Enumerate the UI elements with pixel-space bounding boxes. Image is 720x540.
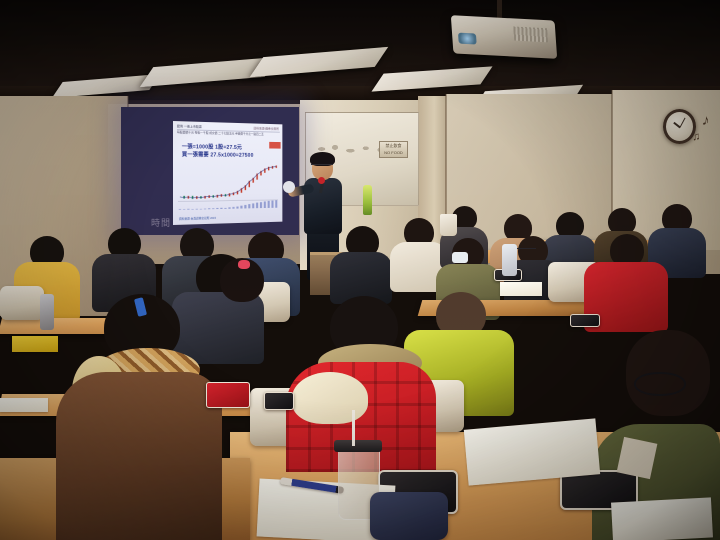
slide-calculation: 一張=1000股 1股=27.5元 買一張需要 27.5x1000=27500 — [182, 143, 279, 160]
hair-tie — [238, 260, 250, 269]
glasses-icon — [516, 248, 536, 254]
slide-header-right: 資料來源:證券交易所 — [253, 126, 278, 131]
slide-header-left: 範例 一張上市股票 — [177, 124, 202, 129]
straw — [352, 410, 355, 446]
wall-sign: 禁止飲食 NO FOOD — [379, 141, 408, 158]
microphone-icon — [318, 177, 325, 184]
glasses-icon — [311, 164, 333, 169]
wall-sign-line2: NO FOOD — [380, 149, 407, 156]
thermos-bottle[interactable] — [502, 244, 517, 276]
music-note-icon: ♫ — [691, 130, 701, 145]
paper-sheet — [500, 282, 542, 296]
attendee-brown-fur-coat — [56, 372, 222, 540]
navy-pouch[interactable] — [370, 492, 448, 540]
projector-vent — [513, 26, 548, 42]
music-note-icon: ♪ — [701, 114, 710, 129]
smartphone-black[interactable] — [264, 392, 294, 410]
projection-screen: 範例 一張上市股票 資料來源:證券交易所 每股面額十元 每張一千股 成交價 二十… — [121, 107, 299, 235]
slide-calc-line2: 買一張需要 27.5x1000=27500 — [182, 151, 279, 160]
chair — [0, 286, 44, 320]
thermos-bottle[interactable] — [40, 294, 54, 330]
stock-chart — [178, 161, 278, 211]
attendee-navy-coat — [172, 292, 264, 364]
glasses-icon — [634, 372, 686, 396]
projected-slide: 範例 一張上市股票 資料來源:證券交易所 每股面額十元 每張一千股 成交價 二十… — [173, 121, 282, 225]
music-note-decor: ♪ ♫ — [692, 114, 720, 152]
notebook-open[interactable] — [464, 418, 600, 485]
slide-badge — [269, 142, 280, 149]
ceiling-projector — [451, 15, 557, 59]
smartphone-black[interactable] — [570, 314, 600, 327]
slide-subtext: 每股面額十元 每張一千股 成交價 二十七點五元 手續費千分之一點四二五 — [177, 130, 280, 141]
cup-lid — [334, 440, 382, 452]
face-mask-icon — [452, 252, 468, 263]
sherpa-lining — [292, 372, 368, 424]
notebook-yellow[interactable] — [12, 336, 58, 352]
screenshot-root: 禁止飲食 NO FOOD ♪ ♫ 範例 一張上市股票 資料來源:證券交易所 每股… — [0, 0, 720, 540]
slide-footer: 資料來源:台灣證券交易所 2015 — [179, 216, 216, 221]
paper-sheet — [0, 398, 48, 412]
wall-sign-line1: 禁止飲食 — [380, 142, 407, 149]
smartphone-red-case[interactable] — [206, 382, 250, 408]
screen-watermark: 時間 — [151, 216, 171, 229]
paper-sheet — [611, 497, 713, 540]
clock-minute-hand — [679, 117, 685, 127]
presenter-hand — [283, 181, 295, 193]
green-bottle — [363, 185, 372, 215]
paper-coffee-cup[interactable] — [440, 214, 457, 236]
stock-chart-svg — [178, 161, 278, 211]
